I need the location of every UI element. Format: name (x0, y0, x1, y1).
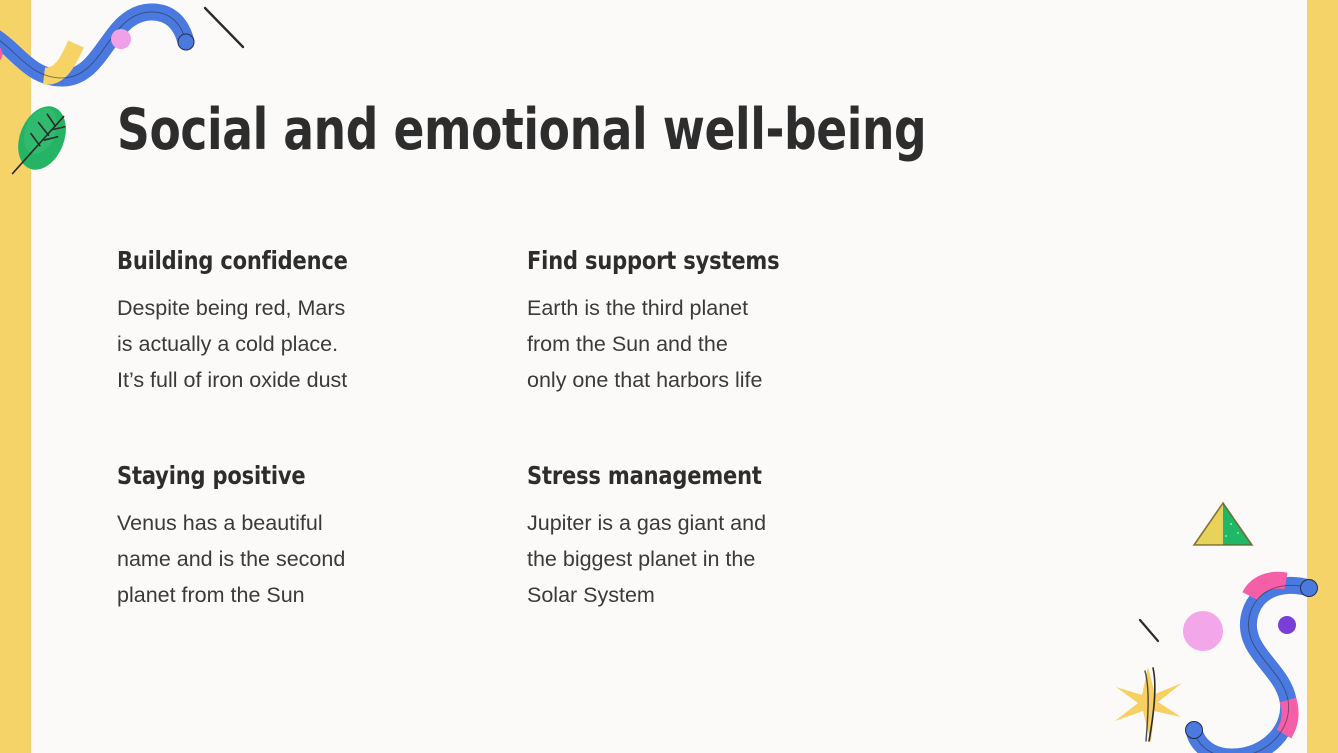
slide-content: Social and emotional well-being Building… (0, 0, 1338, 753)
block-body: Earth is the third planet from the Sun a… (527, 290, 937, 398)
text-block-building-confidence: Building confidence Despite being red, M… (117, 246, 527, 398)
block-heading: Building confidence (117, 246, 461, 276)
text-block-staying-positive: Staying positive Venus has a beautiful n… (117, 461, 527, 613)
block-body: Despite being red, Mars is actually a co… (117, 290, 527, 398)
text-block-find-support-systems: Find support systems Earth is the third … (527, 246, 937, 398)
text-block-grid: Building confidence Despite being red, M… (117, 246, 947, 613)
text-block-stress-management: Stress management Jupiter is a gas giant… (527, 461, 937, 613)
block-row-1: Building confidence Despite being red, M… (117, 246, 947, 398)
block-heading: Stress management (527, 461, 871, 491)
block-heading: Find support systems (527, 246, 871, 276)
block-row-2: Staying positive Venus has a beautiful n… (117, 461, 947, 613)
slide: Social and emotional well-being Building… (0, 0, 1338, 753)
page-title: Social and emotional well-being (117, 98, 926, 162)
block-heading: Staying positive (117, 461, 461, 491)
block-body: Venus has a beautiful name and is the se… (117, 505, 527, 613)
block-body: Jupiter is a gas giant and the biggest p… (527, 505, 937, 613)
